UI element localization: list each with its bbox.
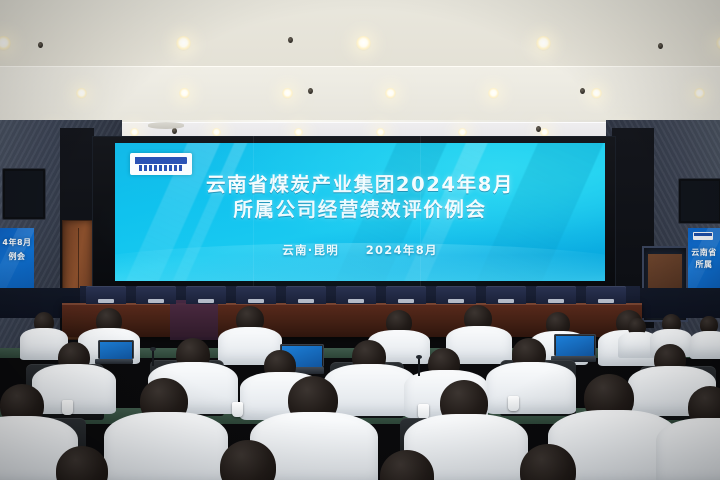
- side-display-left-line1: 4年8月: [0, 238, 34, 248]
- slide-subtitle: 云南·昆明 2024年8月: [115, 242, 605, 258]
- paper-cup: [508, 396, 519, 411]
- side-display-left: 4年8月 例会: [0, 228, 34, 294]
- stage-nameplate: [348, 299, 364, 303]
- ceiling-downlight: [179, 88, 190, 99]
- ceiling-downlight: [536, 36, 551, 51]
- ceiling-downlight: [385, 88, 396, 99]
- side-display-right-line2: 所属: [688, 260, 720, 270]
- ceiling-band-middle: [0, 66, 720, 122]
- slide-subtitle-date: 2024年8月: [366, 243, 438, 257]
- ceiling-downlight: [176, 36, 191, 51]
- sprinkler-head: [580, 88, 585, 94]
- audience-area: [0, 300, 720, 480]
- logo-wordmark-row: [135, 157, 187, 164]
- ceiling-downlight: [356, 36, 371, 51]
- ceiling-downlight: [76, 88, 87, 99]
- presentation-slide: 云南省煤炭产业集团2024年8月 所属公司经营绩效评价例会 云南·昆明 2024…: [115, 143, 605, 281]
- ceiling-downlight: [591, 88, 602, 99]
- wall-monitor-left-screen: [5, 171, 43, 217]
- stage-nameplate: [198, 299, 214, 303]
- led-panel-seam-2: [420, 136, 421, 308]
- stage-nameplate: [448, 299, 464, 303]
- paper-cup: [232, 402, 243, 417]
- paper-cup: [62, 400, 73, 415]
- microphone[interactable]: [152, 350, 154, 366]
- ceiling-downlight: [282, 88, 293, 99]
- led-panel-seam-1: [253, 136, 254, 308]
- slide-bottom-glow: [115, 255, 605, 281]
- stage-nameplate: [148, 299, 164, 303]
- stage-nameplate: [298, 299, 314, 303]
- slide-title: 云南省煤炭产业集团2024年8月 所属公司经营绩效评价例会: [115, 172, 605, 222]
- sprinkler-head: [288, 37, 293, 43]
- laptop[interactable]: [554, 334, 596, 362]
- side-display-right: 云南省 所属: [688, 228, 720, 294]
- wall-monitor-left-off: [2, 168, 46, 220]
- sprinkler-head: [308, 88, 313, 94]
- ceiling-downlight: [694, 88, 705, 99]
- sprinkler-head: [536, 126, 541, 132]
- sprinkler-head: [172, 128, 177, 134]
- slide-title-line-1: 云南省煤炭产业集团2024年8月: [115, 172, 605, 197]
- logo-chinese-row: [139, 165, 183, 171]
- microphone[interactable]: [418, 358, 420, 376]
- wall-monitor-right-screen: [681, 181, 719, 221]
- slide-title-line-2: 所属公司经营绩效评价例会: [115, 197, 605, 222]
- stage-nameplate: [98, 299, 114, 303]
- stage-nameplate: [548, 299, 564, 303]
- conference-room-photo: 4年8月 例会 云南省 所属 云南省煤炭产业集团2024年8月 所属公司经营绩效…: [0, 0, 720, 480]
- stage-nameplate: [498, 299, 514, 303]
- stage-nameplate: [248, 299, 264, 303]
- stage-nameplate: [398, 299, 414, 303]
- side-display-left-line2: 例会: [0, 252, 34, 262]
- side-display-right-line1: 云南省: [688, 248, 720, 258]
- ceiling-band-rear: [0, 0, 720, 66]
- wall-monitor-right-off: [678, 178, 720, 224]
- sprinkler-head: [38, 42, 43, 48]
- sprinkler-head: [658, 43, 663, 49]
- slide-subtitle-place: 云南·昆明: [282, 243, 339, 257]
- ceiling-downlight: [488, 88, 499, 99]
- paper-cup: [418, 404, 429, 419]
- stage-nameplate: [598, 299, 614, 303]
- ceiling-vent: [148, 122, 184, 129]
- side-display-right-logo: [693, 232, 713, 240]
- laptop[interactable]: [98, 340, 134, 364]
